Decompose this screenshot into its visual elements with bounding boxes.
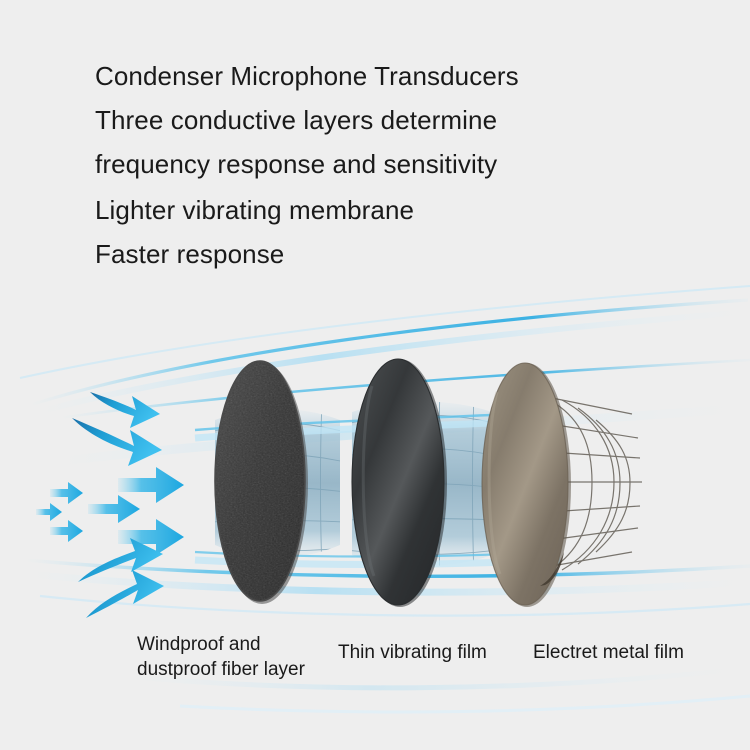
disc-thin-vibrating-film: [352, 359, 447, 607]
caption-windproof-fiber-layer: Windproof and dustproof fiber layer: [137, 632, 305, 682]
illustration-root: Condenser Microphone Transducers Three c…: [0, 0, 750, 750]
disc-windproof-fiber: [215, 361, 308, 604]
airflow-arrow-curved-bottom-1: [78, 538, 163, 582]
disc-electret-metal-film: [482, 363, 571, 607]
caption-thin-vibrating-film: Thin vibrating film: [338, 640, 487, 665]
airflow-arrow-curved-top-1: [90, 392, 160, 428]
headline-line-3: frequency response and sensitivity: [95, 142, 497, 186]
headline-line-1: Condenser Microphone Transducers: [95, 54, 519, 98]
airflow-arrow-small-1: [50, 482, 83, 504]
airflow-arrow-small-2: [36, 503, 62, 521]
headline-line-2: Three conductive layers determine: [95, 98, 497, 142]
caption-fiber-line-1: Windproof and: [137, 632, 305, 657]
airflow-arrow-small-3: [50, 520, 83, 542]
headline-line-5: Faster response: [95, 232, 284, 276]
caption-fiber-line-2: dustproof fiber layer: [137, 657, 305, 682]
caption-electret-metal-film: Electret metal film: [533, 640, 684, 665]
headline-line-4: Lighter vibrating membrane: [95, 188, 414, 232]
airflow-arrow-straight-2: [88, 495, 140, 523]
airflow-arrow-straight-1: [118, 467, 184, 503]
